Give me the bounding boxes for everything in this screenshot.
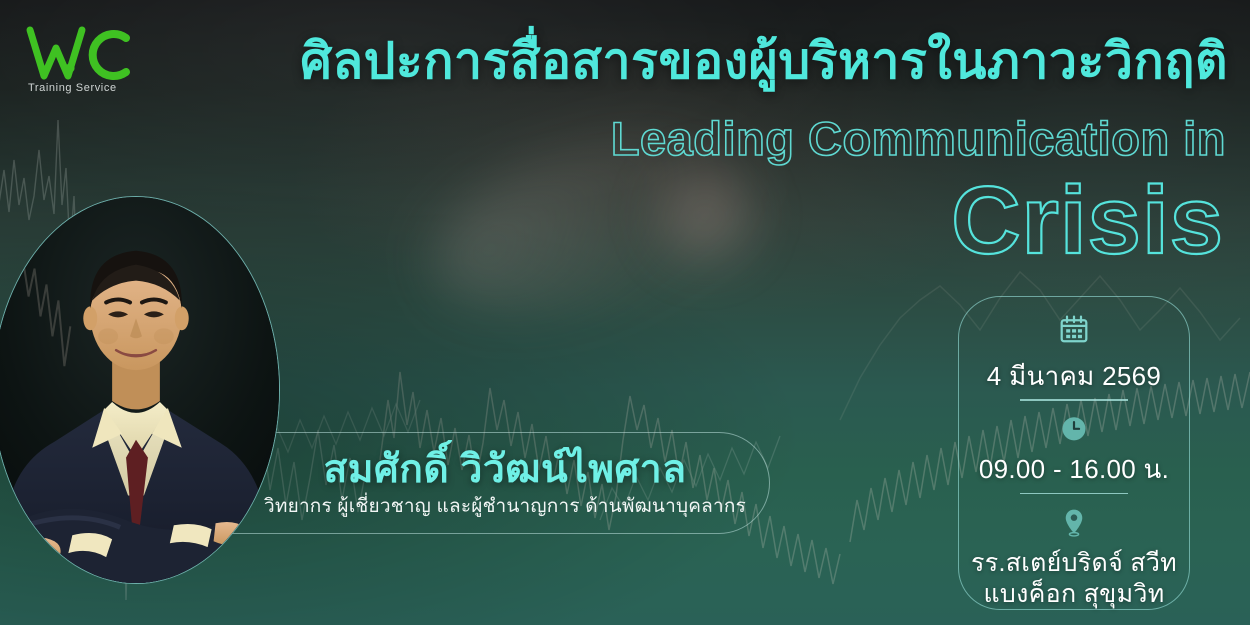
wac-logo-icon	[22, 24, 162, 84]
event-date: 4 มีนาคม 2569	[987, 361, 1161, 393]
event-venue-line1: รร.สเตย์บริดจ์ สวีท	[971, 548, 1177, 579]
brand-tagline: Training Service	[28, 82, 117, 94]
page-subtitle-english-emphasis: Crisis	[0, 172, 1224, 270]
event-venue-line2: แบงค็อก สุขุมวิท	[984, 579, 1165, 610]
clock-icon	[1060, 415, 1088, 443]
event-time: 09.00 - 16.00 น.	[979, 454, 1169, 486]
speaker-role: วิทยากร ผู้เชี่ยวชาญ และผู้ชำนาญการ ด้าน…	[240, 495, 770, 519]
event-info-panel: 4 มีนาคม 2569 09.00 - 16.00 น. รร.สเตย์บ…	[958, 296, 1190, 610]
divider-time	[1020, 493, 1128, 494]
page-title-thai: ศิลปะการสื่อสารของผู้บริหารในภาวะวิกฤติ	[0, 32, 1228, 91]
page-subtitle-english: Leading Communication in	[0, 112, 1226, 166]
calendar-icon	[1057, 313, 1091, 347]
speaker-name-block: สมศักดิ์ วิวัฒน์ไพศาล วิทยากร ผู้เชี่ยวช…	[240, 447, 770, 519]
event-banner: Training Service ศิลปะการสื่อสารของผู้บร…	[0, 0, 1250, 625]
brand-logo[interactable]: Training Service	[22, 24, 162, 104]
speaker-name: สมศักดิ์ วิวัฒน์ไพศาล	[240, 447, 770, 493]
divider-date	[1020, 399, 1128, 400]
location-pin-icon	[1061, 508, 1087, 538]
